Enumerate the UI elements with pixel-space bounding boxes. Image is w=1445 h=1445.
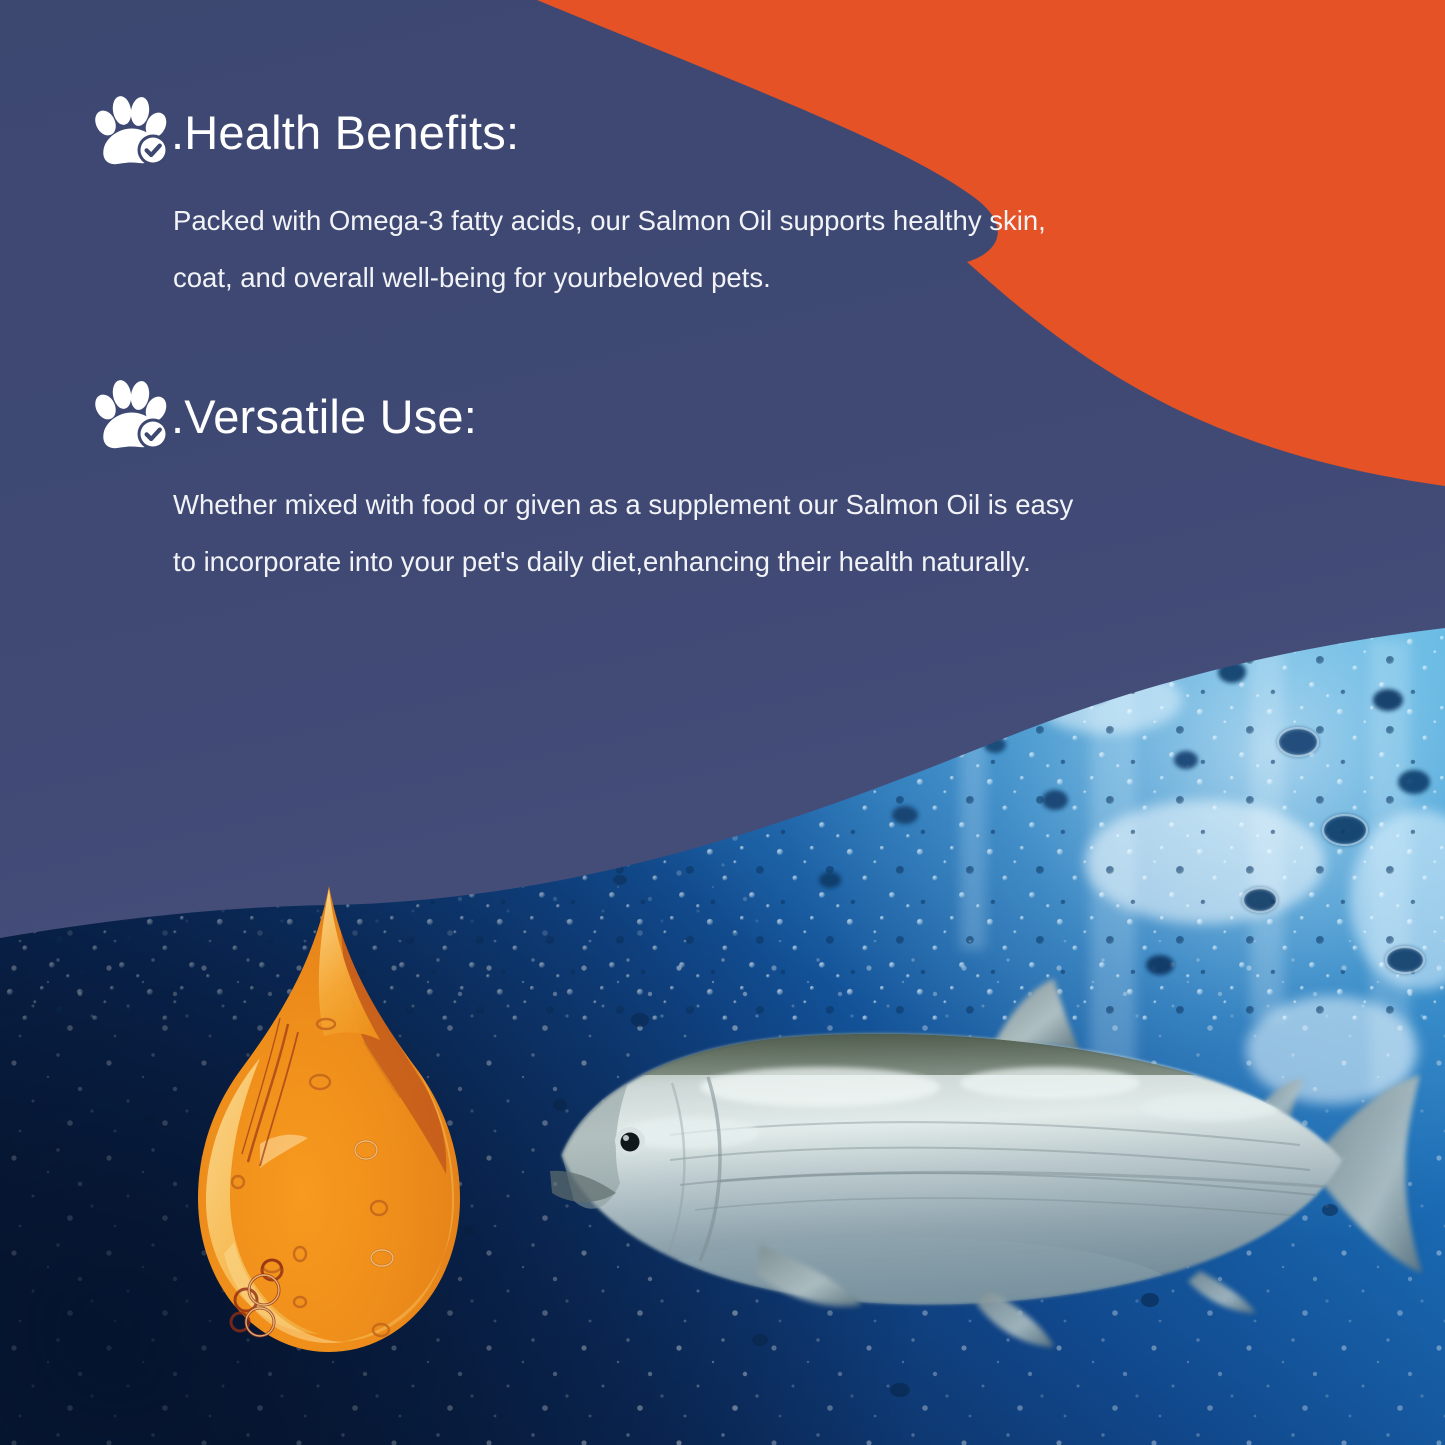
benefit-heading-row: .Versatile Use:	[88, 380, 1073, 452]
oil-droplet	[168, 882, 490, 1398]
benefit-block-health: .Health Benefits: Packed with Omega-3 fa…	[88, 96, 1046, 306]
benefits-content: .Health Benefits: Packed with Omega-3 fa…	[0, 0, 1445, 660]
benefit-heading-label: .Health Benefits:	[171, 109, 519, 156]
paw-check-icon	[88, 96, 174, 168]
paw-check-icon	[88, 380, 174, 452]
salmon-fish	[520, 955, 1430, 1375]
benefit-body-text: Whether mixed with food or given as a su…	[173, 476, 1073, 590]
benefit-block-versatile: .Versatile Use: Whether mixed with food …	[88, 380, 1073, 590]
benefit-body-text: Packed with Omega-3 fatty acids, our Sal…	[173, 192, 1046, 306]
benefit-heading-row: .Health Benefits:	[88, 96, 1046, 168]
product-benefits-poster: .Health Benefits: Packed with Omega-3 fa…	[0, 0, 1445, 1445]
benefit-heading-label: .Versatile Use:	[171, 393, 477, 440]
